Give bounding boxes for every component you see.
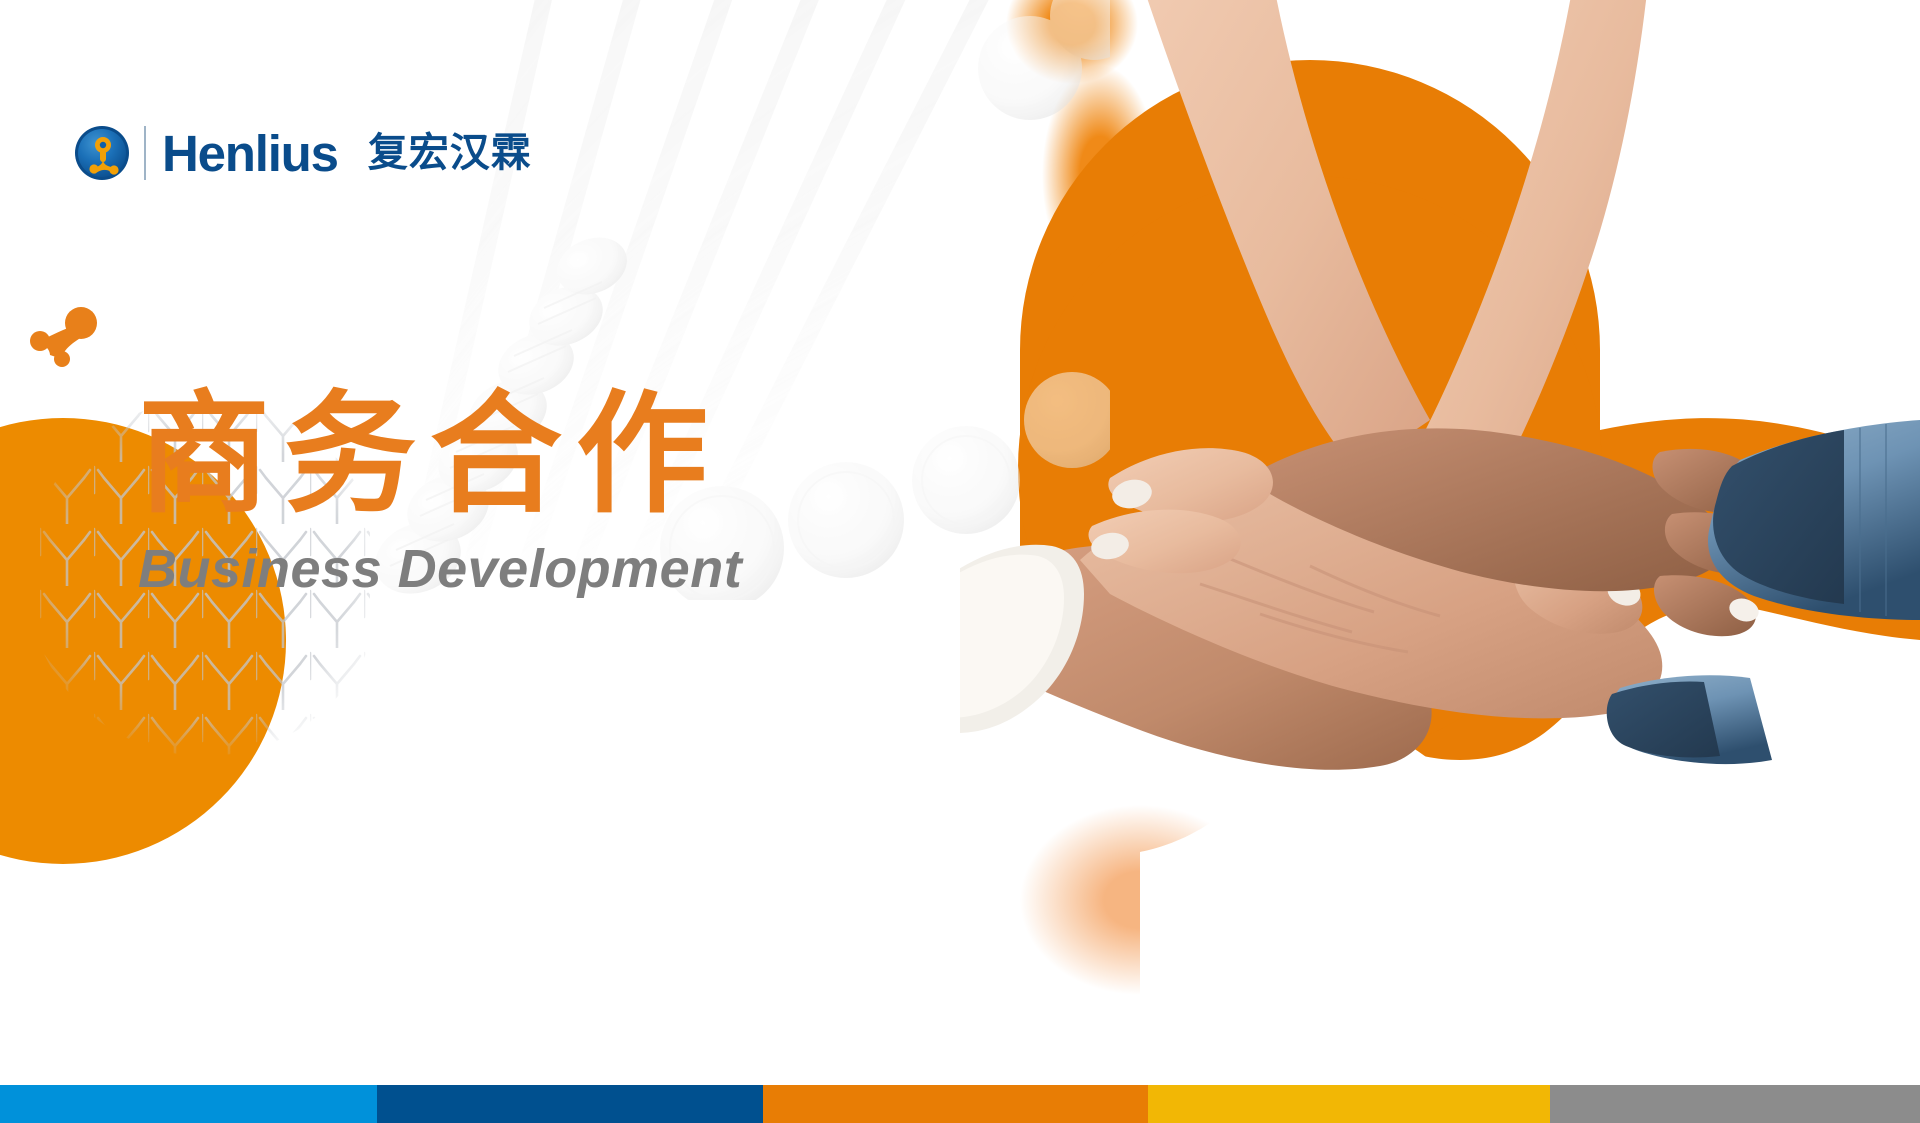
bar-segment-dark-blue — [377, 1085, 763, 1123]
bar-segment-gray — [1550, 1085, 1920, 1123]
page-title-chinese: 商务合作 — [138, 378, 742, 534]
logo-wordmark: Henlius — [162, 128, 338, 179]
teamwork-photo — [960, 0, 1920, 1085]
bar-segment-orange — [763, 1085, 1148, 1123]
molecule-dot-decor — [28, 305, 108, 375]
henlius-circular-molecule-mark-icon — [74, 125, 130, 181]
page-subtitle-english: Business Development — [138, 538, 742, 600]
bar-segment-yellow — [1148, 1085, 1550, 1123]
logo-divider — [144, 126, 146, 180]
title-block: 商务合作 Business Development — [138, 378, 742, 600]
bottom-color-bar — [0, 1085, 1920, 1123]
slide-canvas: Henlius 复宏汉霖 商务合作 Business Development — [0, 0, 1920, 1123]
henlius-logo[interactable]: Henlius 复宏汉霖 — [74, 120, 532, 186]
bar-segment-light-blue — [0, 1085, 377, 1123]
logo-chinese-name: 复宏汉霖 — [368, 133, 532, 173]
